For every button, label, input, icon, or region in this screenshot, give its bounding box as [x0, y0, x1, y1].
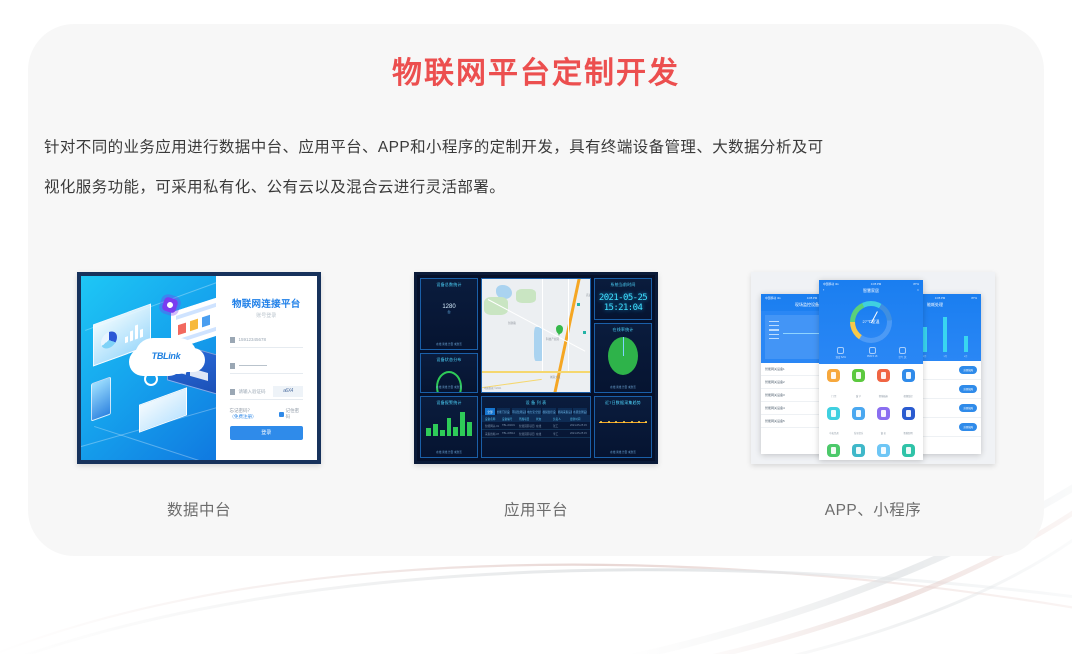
- online-rate-legend: 在线 离线 告警 未激活: [595, 385, 651, 389]
- checkbox-icon: [279, 412, 284, 417]
- login-form: 物联网连接平台 账号登录 15912345678 请输入验证码 a6X4: [216, 276, 317, 460]
- gauge-stats: 湿度 62% PM2.5 18 空气 优: [819, 345, 923, 364]
- tab-water[interactable]: 水质监测设备: [573, 408, 587, 415]
- stat-humidity: 湿度 62%: [836, 347, 846, 359]
- humidity-icon: [837, 347, 844, 354]
- grid-item-camera[interactable]: 视频监控: [897, 369, 919, 402]
- map-location-pin[interactable]: [556, 325, 563, 334]
- table-row[interactable]: 采集终端-07 TBL-00514 智慧园区项目 在线 李工 2021-05-2…: [482, 430, 590, 438]
- dashboard-left-column: 设备总数统计 1280 台 在线 离线 告警 未激活 设备状态分布 在线 离线 …: [420, 278, 478, 393]
- panel-trend-line-chart[interactable]: 近7日数据采集趋势 在线 离线 告警 未激活: [594, 396, 652, 458]
- handle-fault-button[interactable]: 处理故障: [959, 385, 977, 393]
- password-field[interactable]: [230, 358, 303, 374]
- register-link[interactable]: （免费注册）: [230, 414, 257, 419]
- table-row[interactable]: 智能网关-01 TBL-00231 智慧园区项目 在线 张工 2021-05-2…: [482, 422, 590, 430]
- phone-center-nav-title: 智慧家居: [863, 288, 879, 293]
- status-donut-chart: [436, 371, 462, 393]
- refresh-icon[interactable]: ○: [917, 288, 919, 292]
- dashboard-map[interactable]: 科技产业园 创新路 高速出口 城南大道 地图数据 ©2021: [481, 278, 591, 393]
- panel-device-table[interactable]: 设 备 列 表 全部 智能门禁设备 环境监测设备 电力安全监测 视频监控设备 能…: [481, 396, 591, 458]
- status-legend: 在线 离线 告警 未激活: [421, 385, 477, 389]
- grid-item-socket[interactable]: 智能插座: [873, 369, 895, 402]
- alarm-legend: 在线 离线 告警 未激活: [421, 450, 477, 454]
- login-subtitle: 账号登录: [216, 312, 317, 319]
- lighting-icon: [902, 407, 915, 420]
- alarm-bar-chart: [421, 410, 477, 436]
- grid-item-door[interactable]: 门 禁: [823, 369, 845, 402]
- stat-air: 空气 优: [899, 347, 907, 359]
- user-icon: [230, 337, 235, 343]
- device-total-unit: 台: [421, 310, 477, 315]
- tab-energy[interactable]: 能耗采集设备: [558, 408, 572, 415]
- grid-item-thermometer[interactable]: 温湿度计: [823, 444, 845, 460]
- captcha-placeholder: 请输入验证码: [239, 389, 266, 395]
- username-value: 15912345678: [239, 337, 267, 342]
- login-illustration: TBLink: [81, 276, 216, 460]
- temperature-gauge: 27℃室温: [850, 301, 892, 343]
- panel-device-status[interactable]: 设备状态分布 在线 离线 告警 未激活: [420, 353, 478, 393]
- thermometer-icon: [827, 444, 840, 457]
- handle-fault-button[interactable]: 处理故障: [959, 404, 977, 412]
- tab-access[interactable]: 智能门禁设备: [497, 408, 511, 415]
- gas-icon: [902, 444, 915, 457]
- forgot-password-link[interactable]: 忘记密码？ （免费注册）: [230, 408, 279, 420]
- illustration-phone: [91, 376, 111, 421]
- panel-alarm-bar-chart[interactable]: 设备报警统计 在线 离线 告警 未激活: [420, 396, 478, 458]
- description-line-2: 视化服务功能，可采用私有化、公有云以及混合云进行灵活部署。: [44, 168, 1026, 208]
- handle-fault-button[interactable]: 处理故障: [959, 423, 977, 431]
- shield-icon: [230, 389, 235, 395]
- device-table-tabs[interactable]: 全部 智能门禁设备 环境监测设备 电力安全监测 视频监控设备 能耗采集设备 水质…: [482, 408, 590, 415]
- grid-item-curtain[interactable]: 窗 帘: [873, 407, 895, 440]
- panel-system-clock[interactable]: 系统当前时间 2021-05-25 15:21:04: [594, 278, 652, 320]
- stat-pm25: PM2.5 18: [867, 347, 877, 359]
- description-line-1: 针对不同的业务应用进行数据中台、应用平台、APP和小程序的定制开发，具有终端设备…: [44, 128, 1026, 168]
- music-icon: [852, 407, 865, 420]
- screenshot-login-platform[interactable]: TBLink 物联网连接平台 账号登录 15912345678: [77, 272, 321, 464]
- tab-environment[interactable]: 环境监测设备: [512, 408, 526, 415]
- fresh-air-icon: [877, 444, 890, 457]
- back-icon[interactable]: ‹: [823, 287, 824, 292]
- captcha-image[interactable]: a6X4: [273, 386, 303, 397]
- screenshot-data-dashboard[interactable]: 设备总数统计 1280 台 在线 离线 告警 未激活 设备状态分布 在线 离线 …: [414, 272, 658, 464]
- dashboard-right-column: 系统当前时间 2021-05-25 15:21:04 在线率统计 在线 离线 告…: [594, 278, 652, 393]
- brand-label: TBLink: [152, 351, 181, 361]
- tab-power[interactable]: 电力安全监测: [527, 408, 541, 415]
- login-title: 物联网连接平台: [216, 296, 317, 310]
- panel-device-total[interactable]: 设备总数统计 1280 台 在线 离线 告警 未激活: [420, 278, 478, 350]
- window-icon: [852, 369, 865, 382]
- illustration-cloud-logo: TBLink: [135, 338, 197, 374]
- socket-icon: [877, 369, 890, 382]
- page-title: 物联网平台定制开发: [0, 48, 1072, 92]
- page-description: 针对不同的业务应用进行数据中台、应用平台、APP和小程序的定制开发，具有终端设备…: [44, 128, 1026, 207]
- grid-item-window[interactable]: 窗 户: [848, 369, 870, 402]
- tab-all[interactable]: 全部: [485, 408, 495, 415]
- password-value: [239, 365, 267, 367]
- grid-item-gas[interactable]: 燃 气: [897, 444, 919, 460]
- login-submit-button[interactable]: 登录: [230, 426, 303, 440]
- thumbnail-item-app-miniprogram: 中国移动 4G 4:05 PM 87% 现场监控设备 智能网关设备1: [718, 272, 1028, 522]
- screenshot-mobile-app[interactable]: 中国移动 4G 4:05 PM 87% 现场监控设备 智能网关设备1: [751, 272, 995, 464]
- trend-legend: 在线 离线 告警 未激活: [595, 450, 651, 454]
- door-icon: [827, 369, 840, 382]
- thumbnail-row: TBLink 物联网连接平台 账号登录 15912345678: [44, 272, 1028, 522]
- grid-item-aircon[interactable]: 中央空调: [823, 407, 845, 440]
- login-options: 忘记密码？ （免费注册） 记住密码: [230, 408, 303, 420]
- table-header-row: 设备名称 设备编号 所属项目 状态 负责人 更新时间: [482, 415, 590, 422]
- phone-center-status-bar: 中国移动 4G 4:05 PM 87%: [819, 280, 923, 288]
- camera-icon: [902, 369, 915, 382]
- clock-value: 2021-05-25 15:21:04: [595, 293, 651, 313]
- grid-item-music[interactable]: 背景音乐: [848, 407, 870, 440]
- air-conditioner-icon: [827, 407, 840, 420]
- trend-line-chart: [599, 414, 647, 432]
- thumbnail-caption: 数据中台: [167, 498, 231, 520]
- grid-item-alarm[interactable]: 安防报警: [848, 444, 870, 460]
- curtain-icon: [877, 407, 890, 420]
- lock-icon: [230, 363, 235, 369]
- phone-center-nav: ‹ 智慧家居 ○: [819, 288, 923, 297]
- thumbnail-caption: APP、小程序: [825, 498, 922, 520]
- username-field[interactable]: 15912345678: [230, 332, 303, 348]
- illustration-tablet: [139, 387, 187, 432]
- pm25-icon: [869, 347, 876, 354]
- air-quality-icon: [899, 347, 906, 354]
- remember-password-checkbox[interactable]: 记住密码: [279, 408, 303, 420]
- grid-item-lighting[interactable]: 智能照明: [897, 407, 919, 440]
- thumbnail-item-application-platform: 设备总数统计 1280 台 在线 离线 告警 未激活 设备状态分布 在线 离线 …: [381, 272, 691, 522]
- phone-center-header: 中国移动 4G 4:05 PM 87% ‹ 智慧家居 ○ 27℃室温 湿度: [819, 280, 923, 364]
- panel-online-rate[interactable]: 在线率统计 在线 离线 告警 未激活: [594, 323, 652, 393]
- tab-video[interactable]: 视频监控设备: [542, 408, 556, 415]
- alarm-icon: [852, 444, 865, 457]
- phone-screen-smart-home[interactable]: 中国移动 4G 4:05 PM 87% ‹ 智慧家居 ○ 27℃室温 湿度: [819, 280, 923, 460]
- online-rate-pie-chart: [608, 337, 638, 375]
- device-total-legend: 在线 离线 告警 未激活: [421, 342, 477, 346]
- handle-fault-button[interactable]: 处理故障: [959, 366, 977, 374]
- thumbnail-item-data-platform: TBLink 物联网连接平台 账号登录 15912345678: [44, 272, 354, 522]
- grid-item-fresh-air[interactable]: 新风系统: [873, 444, 895, 460]
- device-icon-grid: 门 禁 窗 户 智能插座 视频监控 中央空调 背景音乐 窗 帘 智能照明 温湿度…: [819, 364, 923, 460]
- illustration-node-ring: [144, 372, 158, 386]
- thumbnail-caption: 应用平台: [504, 498, 568, 520]
